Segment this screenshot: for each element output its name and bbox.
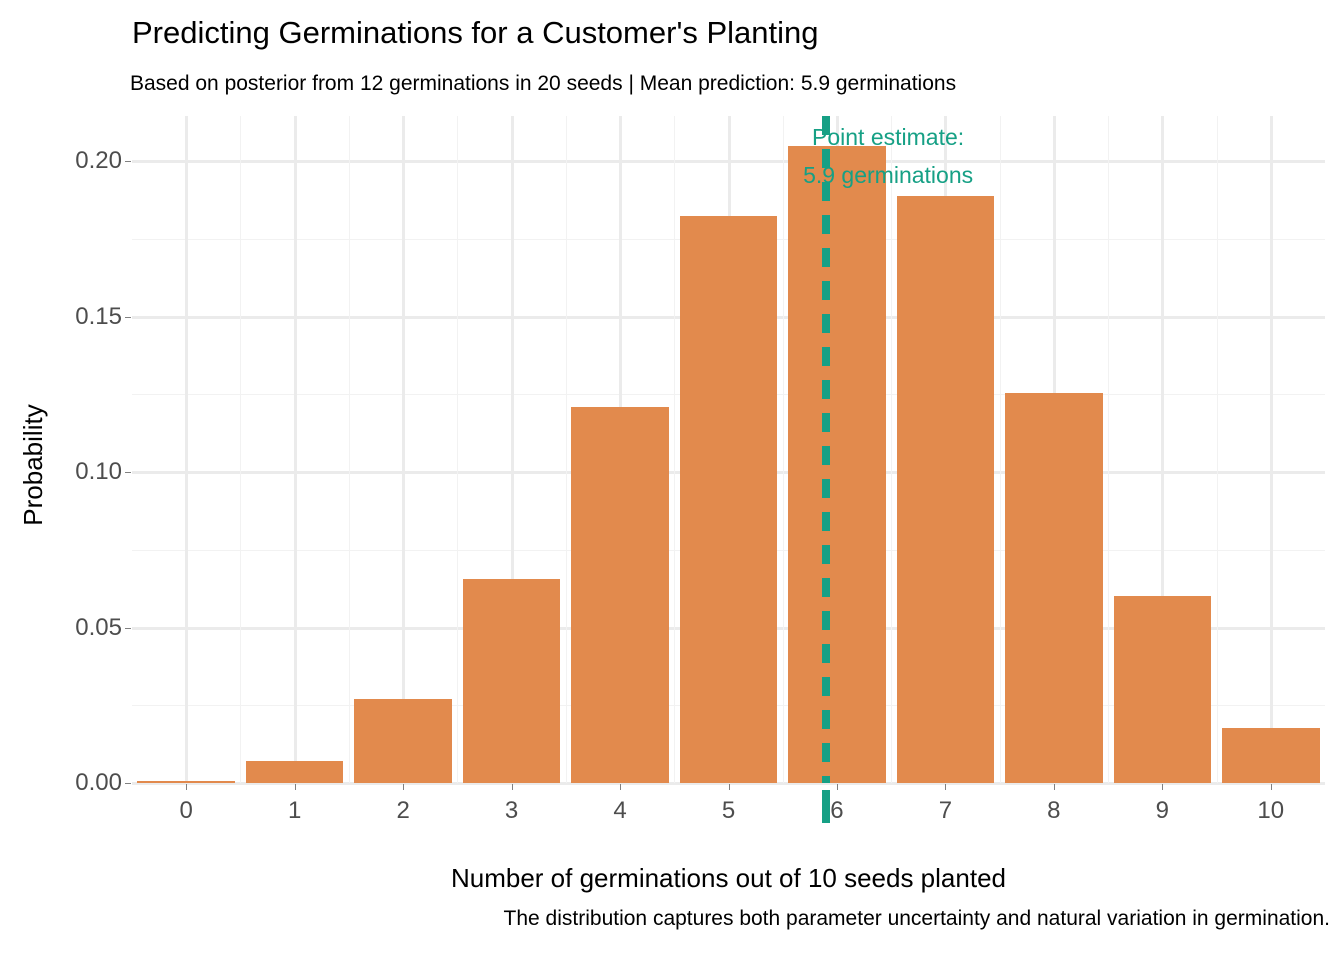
- x-tick-label: 0: [180, 797, 193, 825]
- x-tick-mark: [945, 784, 946, 790]
- x-tick-mark: [295, 784, 296, 790]
- y-tick-label: 0.05: [75, 614, 122, 642]
- x-tick-label: 5: [722, 797, 735, 825]
- y-tick-mark: [125, 783, 131, 784]
- y-axis-title: Probability: [17, 365, 49, 565]
- gridline-major-vertical: [294, 116, 297, 783]
- x-tick-label: 4: [613, 797, 626, 825]
- x-tick-mark: [729, 784, 730, 790]
- x-tick-label: 10: [1257, 797, 1284, 825]
- annotation-line-2: 5.9 germinations: [803, 156, 973, 194]
- gridline-major-vertical: [1270, 116, 1273, 783]
- x-tick-label: 1: [288, 797, 301, 825]
- bar: [571, 407, 669, 783]
- bar: [463, 579, 561, 783]
- x-tick-mark: [1054, 784, 1055, 790]
- x-tick-label: 3: [505, 797, 518, 825]
- x-tick-mark: [1162, 784, 1163, 790]
- gridline-major-vertical: [185, 116, 188, 783]
- gridline-minor-vertical: [674, 116, 675, 783]
- x-tick-label: 2: [396, 797, 409, 825]
- bar: [137, 781, 235, 783]
- gridline-major-vertical: [402, 116, 405, 783]
- y-tick-label: 0.15: [75, 303, 122, 331]
- x-tick-label: 6: [830, 797, 843, 825]
- x-axis-title: Number of germinations out of 10 seeds p…: [132, 862, 1325, 894]
- gridline-minor-vertical: [783, 116, 784, 783]
- bar: [246, 761, 344, 783]
- chart-subtitle: Based on posterior from 12 germinations …: [130, 71, 956, 97]
- gridline-minor-vertical: [566, 116, 567, 783]
- x-tick-mark: [403, 784, 404, 790]
- plot-panel: [132, 116, 1325, 783]
- bar: [1222, 728, 1320, 783]
- x-tick-mark: [186, 784, 187, 790]
- gridline-minor-vertical: [1217, 116, 1218, 783]
- chart-root: Predicting Germinations for a Customer's…: [0, 0, 1344, 960]
- y-tick-mark: [125, 628, 131, 629]
- x-tick-mark: [837, 784, 838, 790]
- chart-caption: The distribution captures both parameter…: [0, 906, 1330, 932]
- bar: [354, 699, 452, 783]
- y-tick-mark: [125, 472, 131, 473]
- gridline-minor-vertical: [349, 116, 350, 783]
- gridline-minor-vertical: [1000, 116, 1001, 783]
- y-tick-mark: [125, 161, 131, 162]
- x-tick-label: 7: [939, 797, 952, 825]
- bar: [680, 216, 778, 783]
- y-tick-mark: [125, 317, 131, 318]
- gridline-minor-vertical: [457, 116, 458, 783]
- point-estimate-line-tail: [822, 790, 830, 823]
- y-tick-label: 0.00: [75, 769, 122, 797]
- gridline-minor-vertical: [240, 116, 241, 783]
- annotation-line-1: Point estimate:: [803, 118, 973, 156]
- x-tick-label: 9: [1156, 797, 1169, 825]
- gridline-minor-vertical: [891, 116, 892, 783]
- point-estimate-annotation: Point estimate: 5.9 germinations: [803, 118, 973, 194]
- y-tick-label: 0.20: [75, 147, 122, 175]
- bar: [1005, 393, 1103, 783]
- y-tick-label: 0.10: [75, 458, 122, 486]
- bar: [788, 146, 886, 783]
- gridline-minor-vertical: [1108, 116, 1109, 783]
- x-tick-label: 8: [1047, 797, 1060, 825]
- x-tick-mark: [620, 784, 621, 790]
- bar: [897, 196, 995, 783]
- point-estimate-line: [822, 116, 830, 783]
- x-tick-mark: [512, 784, 513, 790]
- x-tick-mark: [1271, 784, 1272, 790]
- chart-title: Predicting Germinations for a Customer's…: [132, 14, 819, 52]
- bar: [1114, 596, 1212, 783]
